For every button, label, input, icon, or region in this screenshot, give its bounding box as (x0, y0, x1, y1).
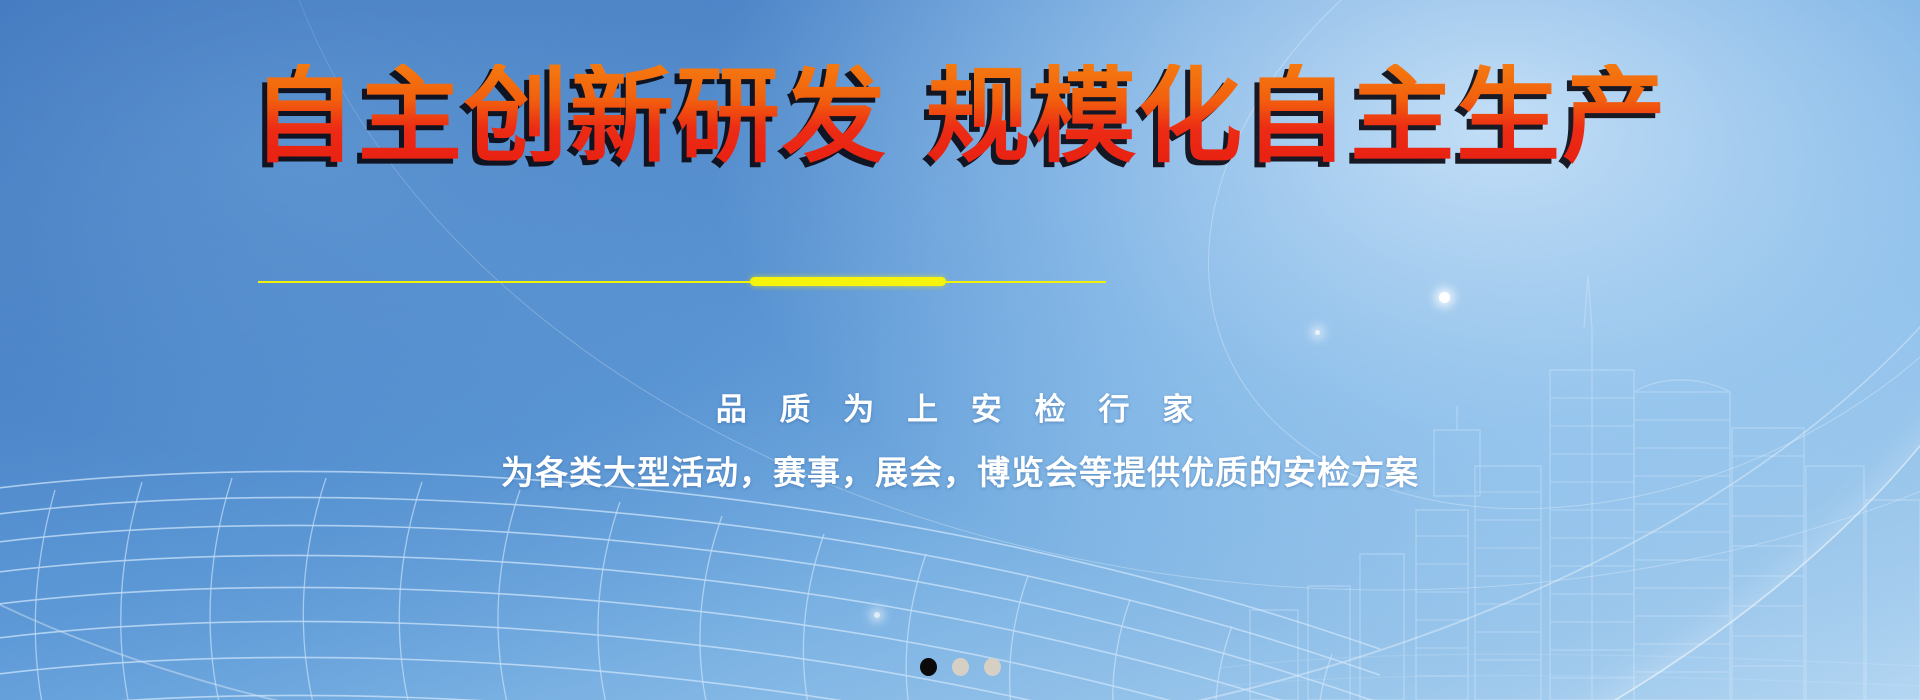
page-title: 自主创新研发 规模化自主生产 (0, 64, 1920, 168)
carousel-dots[interactable] (0, 658, 1920, 676)
carousel-dot-1[interactable] (920, 658, 937, 676)
hero-banner: 自主创新研发 规模化自主生产 品 质 为 上 安 检 行 家 为各类大型活动，赛… (0, 0, 1920, 700)
carousel-dot-3[interactable] (984, 658, 1001, 676)
subtitle-primary: 品 质 为 上 安 检 行 家 (0, 384, 1920, 429)
divider-thick-accent (750, 277, 946, 286)
yellow-divider (0, 276, 1920, 288)
banner-content: 自主创新研发 规模化自主生产 品 质 为 上 安 检 行 家 为各类大型活动，赛… (0, 0, 1920, 700)
carousel-dot-2[interactable] (952, 658, 969, 676)
divider-thin-line (258, 281, 1106, 283)
subtitle-secondary: 为各类大型活动，赛事，展会，博览会等提供优质的安检方案 (0, 446, 1920, 494)
